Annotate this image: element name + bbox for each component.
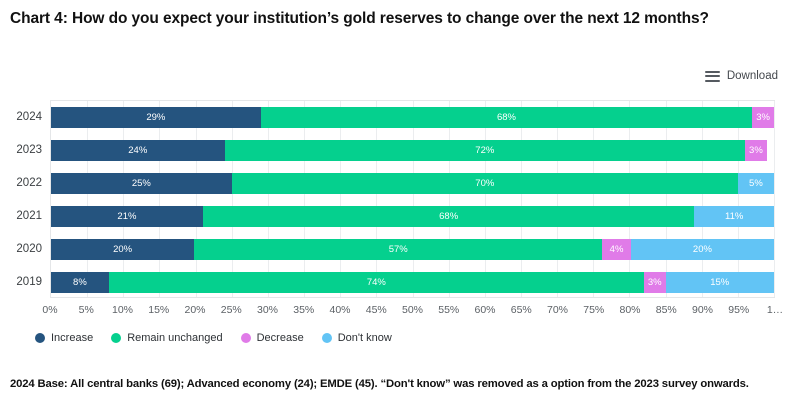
x-axis-tick: 85% [656,304,677,316]
chart-legend: IncreaseRemain unchangedDecreaseDon't kn… [35,332,392,344]
chart-page: Chart 4: How do you expect your institut… [0,0,790,406]
download-button-label: Download [727,70,778,82]
y-axis-tick-2020: 2020 [16,243,42,255]
x-axis-tick: 95% [728,304,749,316]
y-axis-tick-2022: 2022 [16,177,42,189]
bar-segment[interactable]: 8% [51,272,109,293]
legend-item-label: Don't know [338,332,392,344]
bar-segment[interactable]: 24% [51,140,225,161]
bar-segment[interactable]: 25% [51,173,232,194]
x-axis-tick: 45% [366,304,387,316]
bar-segment[interactable]: 70% [232,173,738,194]
bar-segment[interactable]: 4% [602,239,631,260]
x-axis-tick: 25% [221,304,242,316]
bar-row-2021: 21%68%11% [51,206,774,227]
y-axis-tick-2021: 2021 [16,210,42,222]
x-axis-tick: 65% [511,304,532,316]
legend-swatch-icon [241,333,251,343]
x-axis-tick: 1… [767,304,783,316]
legend-item-decrease[interactable]: Decrease [241,332,304,344]
legend-swatch-icon [111,333,121,343]
y-axis-tick-2023: 2023 [16,144,42,156]
x-axis-tick: 50% [402,304,423,316]
plot-area: 29%68%3%24%72%3%25%70%5%21%68%11%20%57%4… [50,100,775,298]
x-axis-tick: 20% [184,304,205,316]
bar-segment[interactable]: 72% [225,140,746,161]
bar-segment[interactable]: 68% [203,206,695,227]
download-button[interactable]: Download [705,70,778,82]
legend-item-label: Increase [51,332,93,344]
bar-row-2019: 8%74%3%15% [51,272,774,293]
x-axis-tick: 90% [692,304,713,316]
page-title: Chart 4: How do you expect your institut… [10,8,770,30]
bar-segment[interactable]: 68% [261,107,753,128]
x-axis-tick: 75% [583,304,604,316]
bar-segment[interactable]: 29% [51,107,261,128]
bar-segment[interactable]: 57% [194,239,602,260]
bar-segment[interactable]: 20% [51,239,194,260]
y-axis-tick-2019: 2019 [16,276,42,288]
bar-row-2020: 20%57%4%20% [51,239,774,260]
chart-plot: 202420232022202120202019 29%68%3%24%72%3… [10,100,778,298]
bar-row-2024: 29%68%3% [51,107,774,128]
bar-segment[interactable]: 11% [694,206,774,227]
gridline [774,101,775,297]
y-axis: 202420232022202120202019 [10,100,50,298]
x-axis: 0%5%10%15%20%25%30%35%40%45%50%55%60%65%… [50,300,775,320]
x-axis-tick: 30% [257,304,278,316]
x-axis-tick: 60% [474,304,495,316]
bar-segment[interactable]: 3% [752,107,774,128]
bar-row-2022: 25%70%5% [51,173,774,194]
x-axis-tick: 70% [547,304,568,316]
legend-item-label: Remain unchanged [127,332,222,344]
x-axis-tick: 5% [79,304,94,316]
bar-segment[interactable]: 21% [51,206,203,227]
bar-segment[interactable]: 15% [666,272,774,293]
bar-segment[interactable]: 5% [738,173,774,194]
bar-segment[interactable]: 74% [109,272,644,293]
bar-segment[interactable]: 3% [745,140,767,161]
bar-series-container: 29%68%3%24%72%3%25%70%5%21%68%11%20%57%4… [51,101,774,297]
legend-swatch-icon [35,333,45,343]
x-axis-tick: 80% [619,304,640,316]
y-axis-tick-2024: 2024 [16,111,42,123]
legend-item-increase[interactable]: Increase [35,332,93,344]
bar-segment[interactable]: 3% [644,272,666,293]
chart-footnote: 2024 Base: All central banks (69); Advan… [10,378,780,390]
x-axis-tick: 10% [112,304,133,316]
x-axis-tick: 35% [293,304,314,316]
legend-item-remain-unchanged[interactable]: Remain unchanged [111,332,222,344]
legend-swatch-icon [322,333,332,343]
hamburger-menu-icon [705,71,720,82]
x-axis-tick: 55% [438,304,459,316]
bar-segment[interactable]: 20% [631,239,774,260]
x-axis-tick: 15% [148,304,169,316]
bar-row-2023: 24%72%3% [51,140,774,161]
x-axis-tick: 0% [42,304,57,316]
legend-item-don-t-know[interactable]: Don't know [322,332,392,344]
legend-item-label: Decrease [257,332,304,344]
x-axis-tick: 40% [329,304,350,316]
